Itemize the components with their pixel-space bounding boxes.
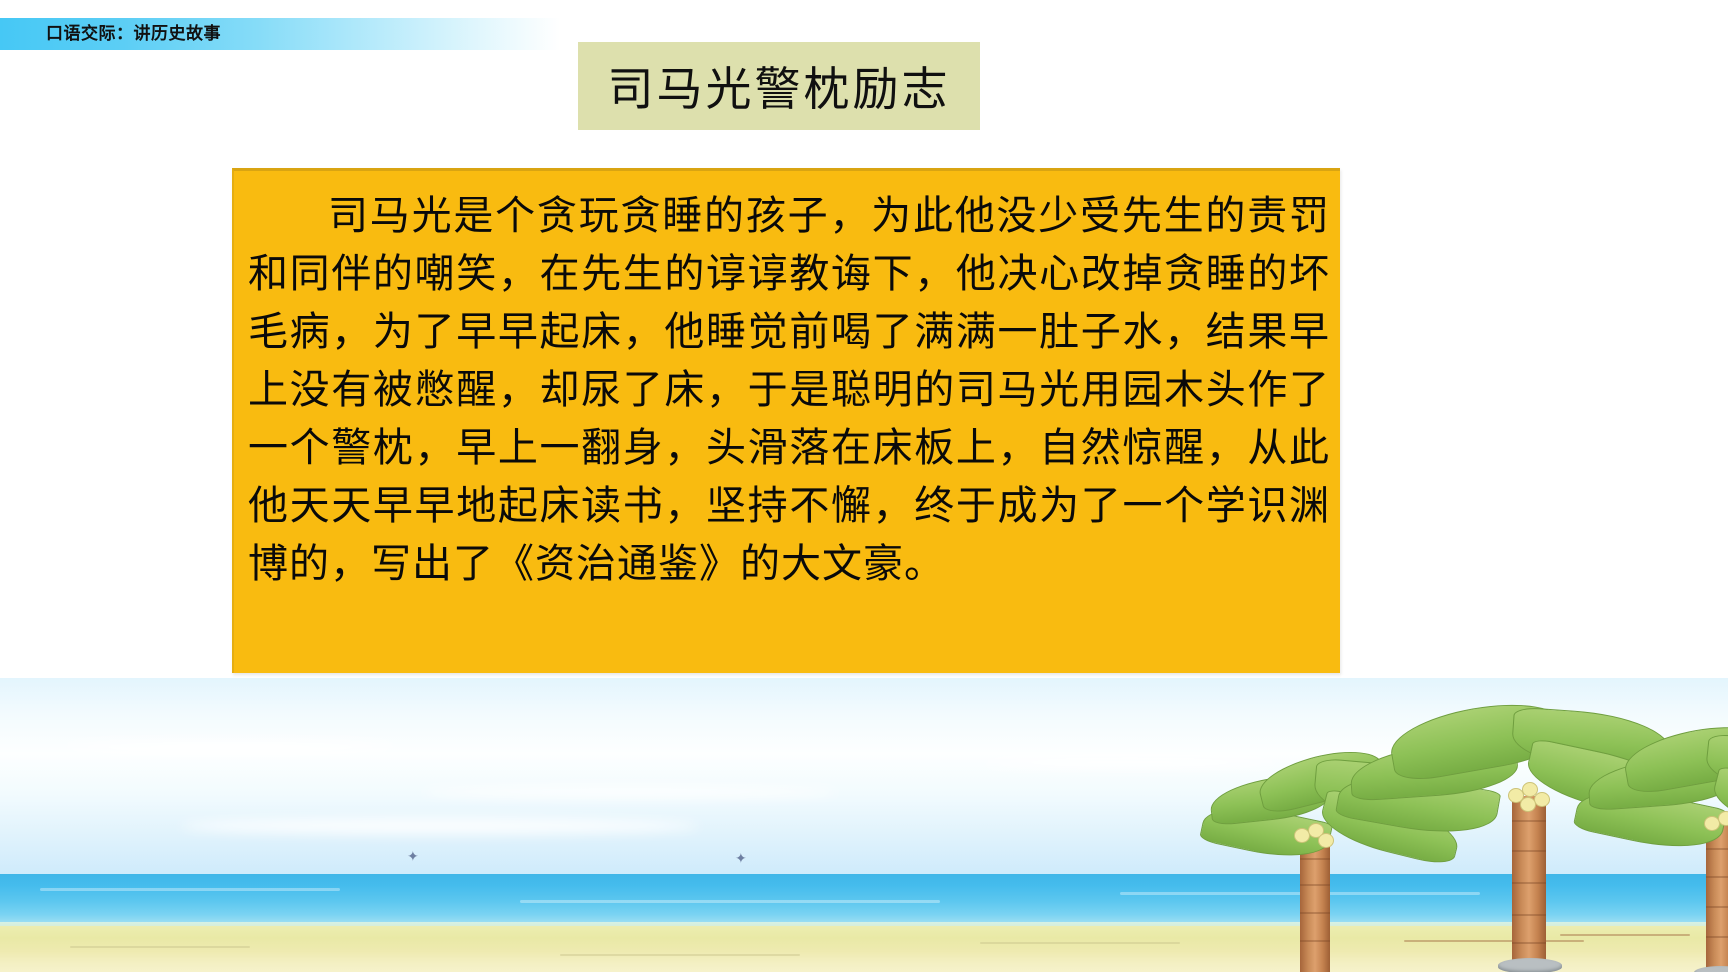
palm-trunk: [1706, 824, 1728, 972]
beach-scene-illustration: [0, 678, 1728, 972]
story-body-text: 司马光是个贪玩贪睡的孩子，为此他没少受先生的责罚和同伴的嘲笑，在先生的谆谆教诲下…: [248, 187, 1330, 593]
palm-trunk: [1300, 836, 1330, 972]
sea-streak: [40, 888, 340, 891]
sand-ripple: [560, 954, 800, 956]
cloud-wisp: [420, 786, 840, 798]
presentation-slide: 口语交际：讲历史故事 司马光警枕励志 司马光是个贪玩贪睡的孩子，为此他没少受先生…: [0, 0, 1728, 972]
sand-ripple: [980, 942, 1180, 944]
sea-streak: [520, 900, 940, 903]
story-content-panel: 司马光是个贪玩贪睡的孩子，为此他没少受先生的责罚和同伴的嘲笑，在先生的谆谆教诲下…: [232, 168, 1340, 673]
sand-ripple: [70, 946, 250, 948]
palm-tree: [1520, 696, 1728, 972]
header-banner-label: 口语交际：讲历史故事: [46, 20, 221, 48]
title-box: 司马光警枕励志: [578, 42, 980, 130]
cloud-wisp: [180, 818, 700, 834]
palm-base-rocks: [1694, 966, 1728, 972]
page-title: 司马光警枕励志: [578, 42, 980, 130]
cloud-wisp: [60, 740, 400, 754]
